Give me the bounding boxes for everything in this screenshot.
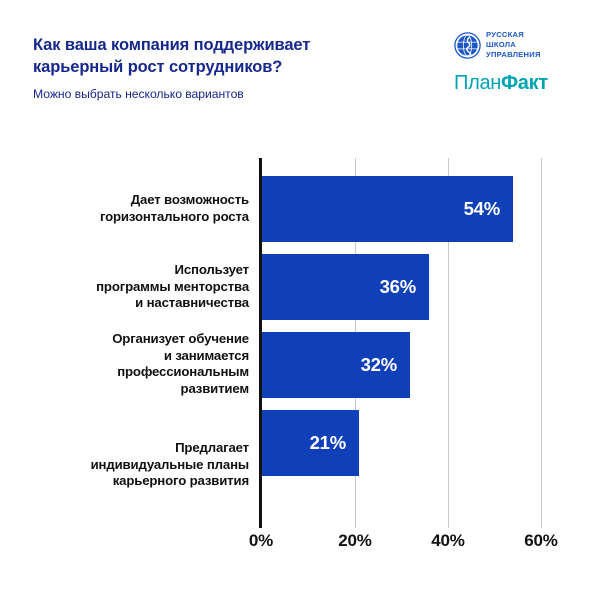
category-label-0: Дает возможность горизонтального роста	[19, 192, 249, 225]
bar-value-2: 32%	[361, 332, 397, 398]
bar-value-0: 54%	[464, 176, 500, 242]
bar-1[interactable]: 36%	[261, 254, 429, 320]
bar-3[interactable]: 21%	[261, 410, 359, 476]
bar-0[interactable]: 54%	[261, 176, 513, 242]
bar-chart: 54% 36% 32% 21% Дает возможность гори	[0, 0, 600, 600]
xtick-label-1: 20%	[325, 531, 385, 551]
category-label-1: Использует программы менторства и настав…	[19, 262, 249, 312]
category-label-3: Предлагает индивидуальные планы карьерно…	[19, 440, 249, 490]
category-label-2: Организует обучение и занимается професс…	[19, 331, 249, 397]
gridline-60	[541, 158, 542, 528]
y-axis-line	[259, 158, 262, 528]
plot-area: 54% 36% 32% 21%	[261, 158, 558, 528]
chart-page: Как ваша компания поддерживает карьерный…	[0, 0, 600, 600]
xtick-label-0: 0%	[231, 531, 291, 551]
bar-value-1: 36%	[380, 254, 416, 320]
bar-value-3: 21%	[310, 410, 346, 476]
xtick-label-3: 60%	[511, 531, 571, 551]
bar-2[interactable]: 32%	[261, 332, 410, 398]
xtick-label-2: 40%	[418, 531, 478, 551]
